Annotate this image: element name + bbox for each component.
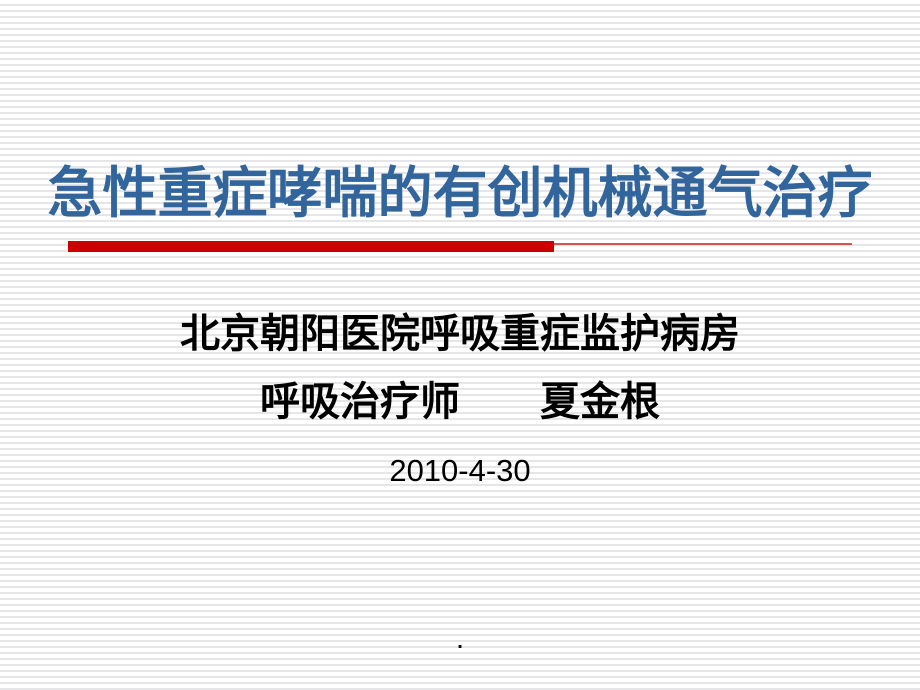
subtitle-line-institution: 北京朝阳医院呼吸重症监护病房 — [0, 300, 920, 368]
title-underline-thick — [68, 241, 554, 252]
page-title: 急性重症哮喘的有创机械通气治疗 — [47, 160, 872, 226]
subtitle-line-author: 呼吸治疗师 夏金根 — [0, 368, 920, 436]
footer-dot-mark: . — [0, 630, 920, 654]
title-underline-group — [68, 240, 852, 252]
slide-canvas: 急性重症哮喘的有创机械通气治疗 北京朝阳医院呼吸重症监护病房 呼吸治疗师 夏金根… — [0, 0, 920, 690]
subtitle-block: 北京朝阳医院呼吸重症监护病房 呼吸治疗师 夏金根 2010-4-30 — [0, 300, 920, 490]
presentation-date: 2010-4-30 — [0, 436, 920, 490]
title-block: 急性重症哮喘的有创机械通气治疗 — [0, 160, 920, 226]
